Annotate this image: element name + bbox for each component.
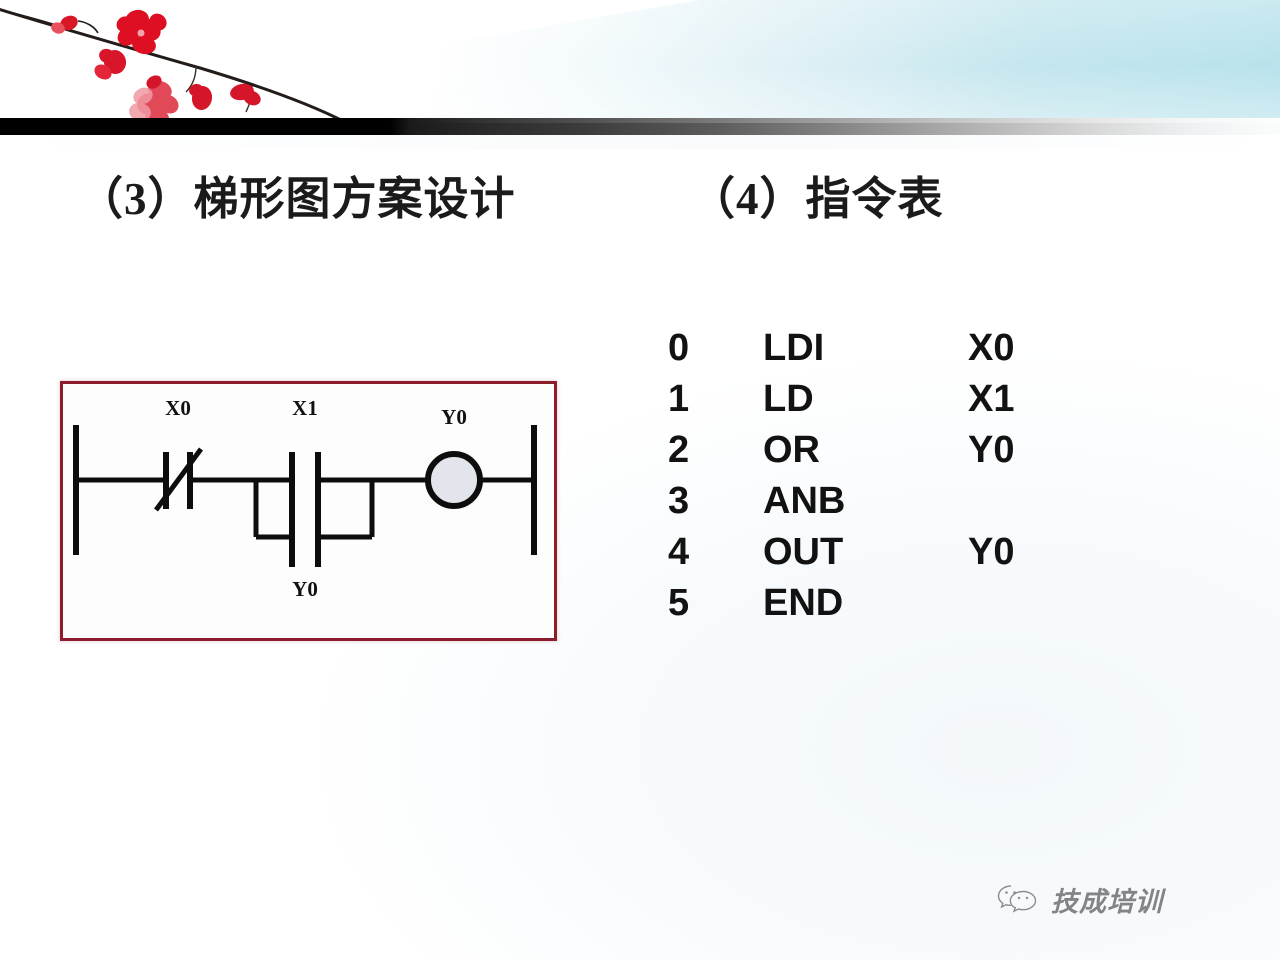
cell-mnemonic: LDI (763, 327, 968, 370)
slide-canvas: （3）梯形图方案设计 （4）指令表 (0, 0, 1280, 960)
table-row: 5 END (668, 582, 1088, 633)
heading-instruction-list: （4）指令表 (690, 162, 944, 227)
cell-operand: Y0 (968, 429, 1088, 472)
cell-addr: 4 (668, 531, 763, 574)
wechat-logo-icon (995, 880, 1039, 919)
label-contact-y0: Y0 (292, 577, 318, 601)
cell-mnemonic: END (763, 582, 968, 625)
cell-operand: Y0 (968, 531, 1088, 574)
cell-addr: 1 (668, 378, 763, 421)
table-row: 4 OUT Y0 (668, 531, 1088, 582)
table-row: 1 LD X1 (668, 378, 1088, 429)
cell-addr: 3 (668, 480, 763, 523)
contact-x1 (292, 452, 318, 509)
label-coil-y0: Y0 (441, 405, 467, 429)
coil-y0 (428, 454, 480, 506)
contact-y0 (292, 509, 318, 567)
header-divider-fade (0, 135, 1280, 149)
cell-mnemonic: ANB (763, 480, 968, 523)
cell-mnemonic: OR (763, 429, 968, 472)
table-row: 3 ANB (668, 480, 1088, 531)
header-divider-bar (0, 118, 1280, 135)
table-row: 0 LDI X0 (668, 327, 1088, 378)
label-contact-x0: X0 (165, 396, 191, 420)
table-row: 2 OR Y0 (668, 429, 1088, 480)
plum-blossom-branch-icon (0, 0, 420, 125)
cell-operand: X0 (968, 327, 1088, 370)
cell-addr: 0 (668, 327, 763, 370)
instruction-list-table: 0 LDI X0 1 LD X1 2 OR Y0 3 ANB 4 OUT Y0 … (668, 327, 1088, 633)
cell-operand: X1 (968, 378, 1088, 421)
cell-mnemonic: LD (763, 378, 968, 421)
label-contact-x1: X1 (292, 396, 318, 420)
watermark-text: 技成培训 (1051, 880, 1163, 919)
cell-addr: 5 (668, 582, 763, 625)
watermark: 技成培训 (995, 880, 1163, 919)
ladder-diagram: X0 X1 Y0 Y0 (60, 381, 557, 641)
cell-addr: 2 (668, 429, 763, 472)
heading-ladder-design: （3）梯形图方案设计 (78, 162, 516, 227)
cell-mnemonic: OUT (763, 531, 968, 574)
